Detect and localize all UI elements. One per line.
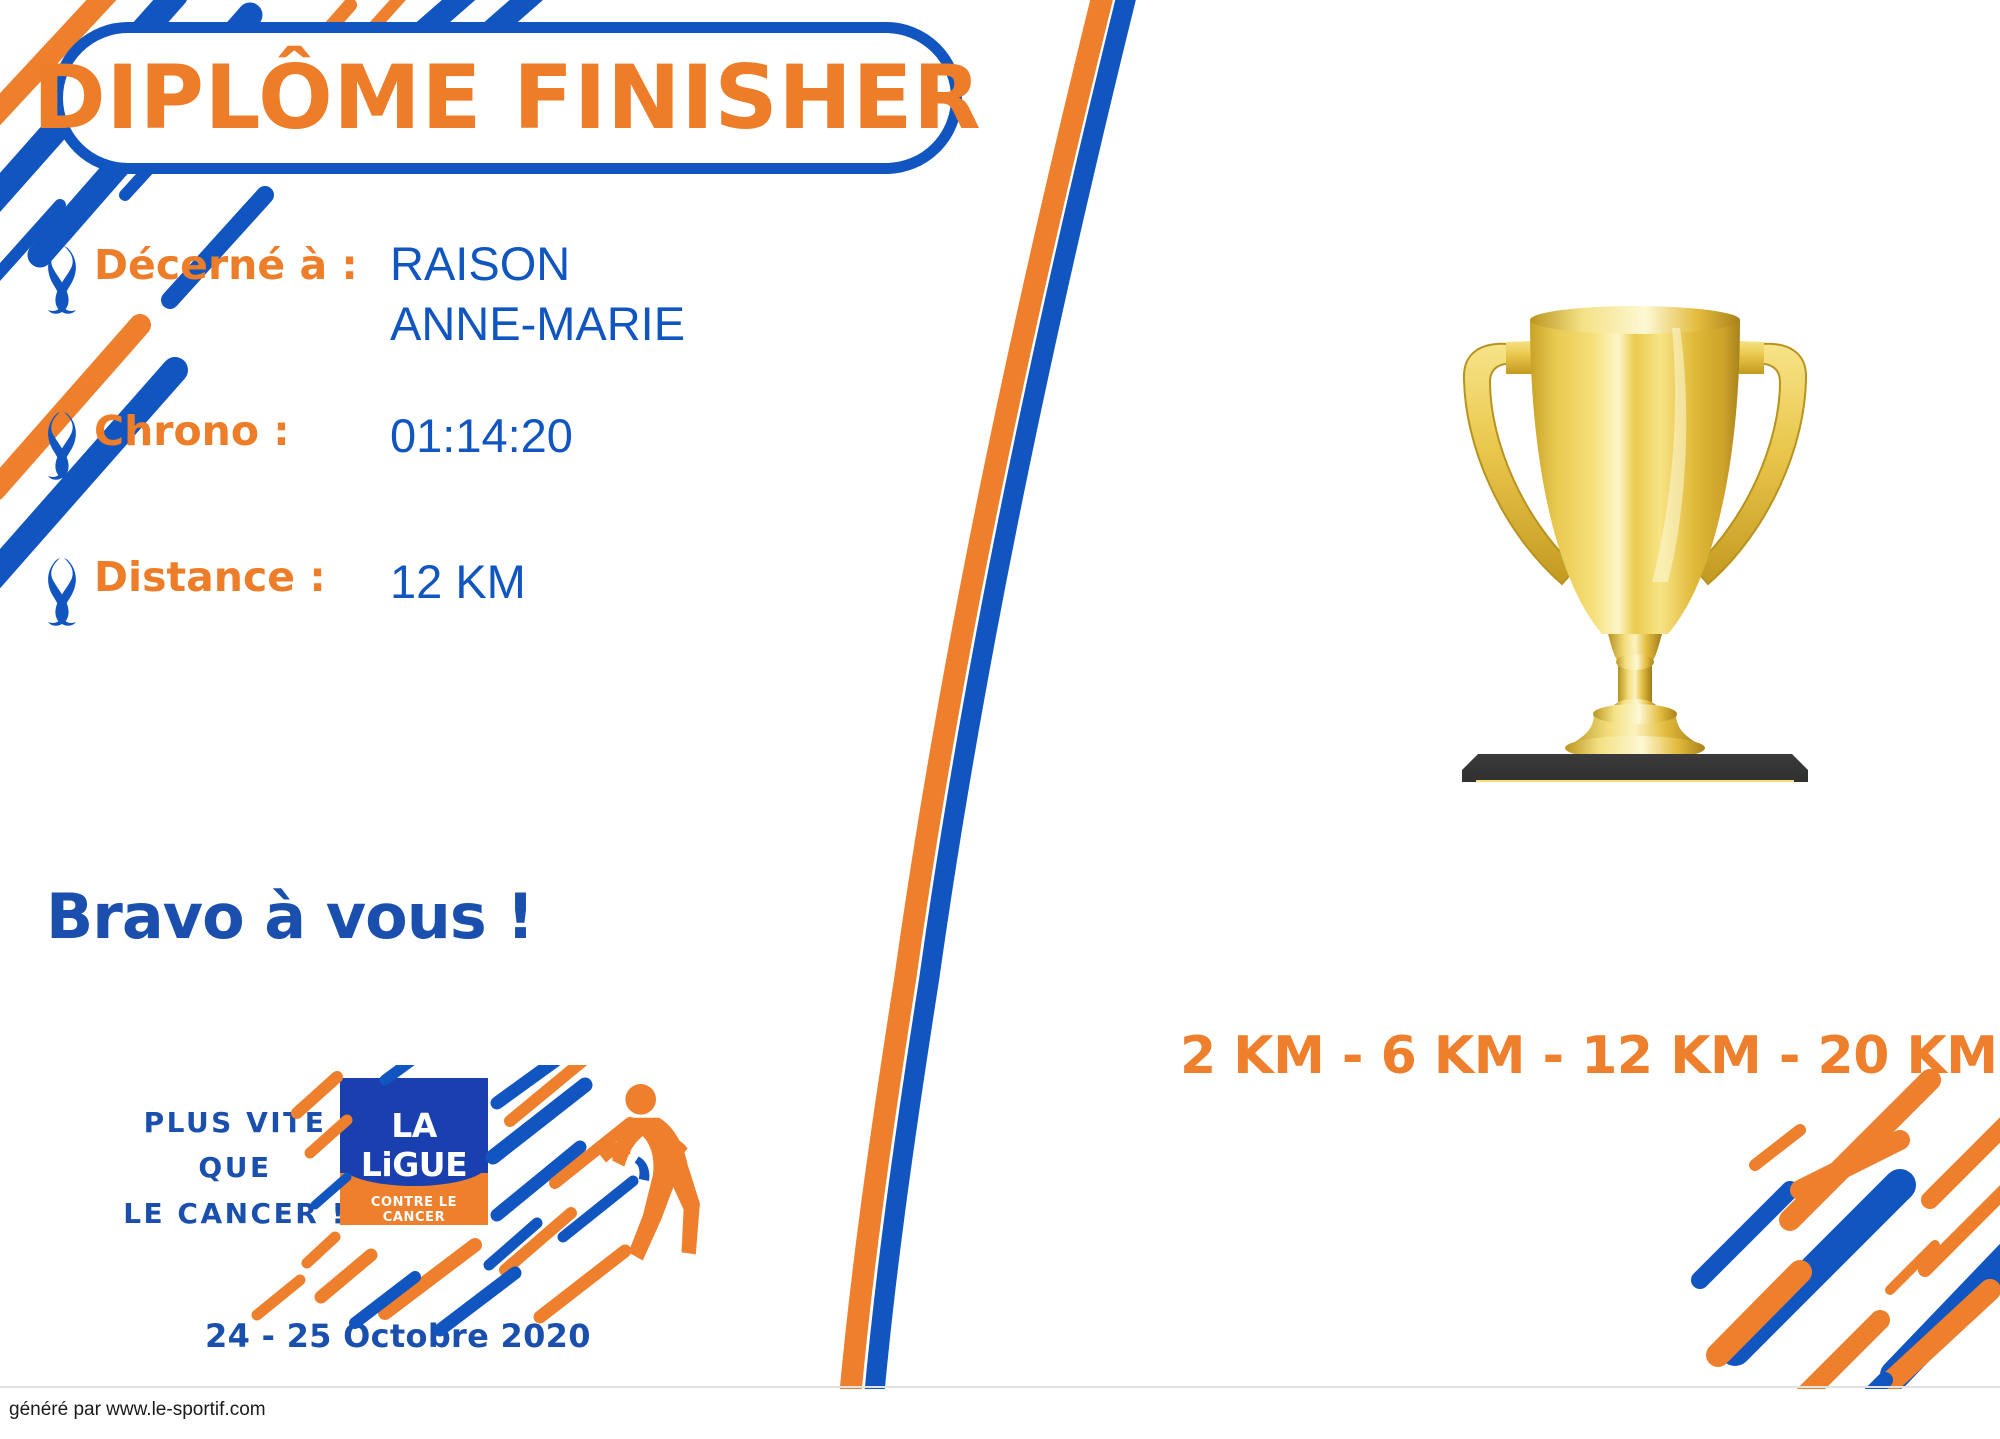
- trophy-illustration: [1380, 262, 1890, 782]
- detail-value-chrono: 01:14:20: [390, 406, 573, 466]
- logo-brand-text: LA LiGUE: [340, 1106, 488, 1184]
- event-branding-block: PLUS VITE QUE LE CANCER !: [85, 1065, 705, 1375]
- detail-value-distance: 12 KM: [390, 552, 526, 612]
- detail-label-distance: Distance :: [94, 550, 326, 599]
- footer-divider: [0, 1386, 2000, 1388]
- runner-silhouette-icon: [598, 1084, 700, 1260]
- ribbon-icon: [40, 408, 84, 482]
- detail-value-recipient: RAISON ANNE-MARIE: [390, 234, 685, 354]
- page-title: DIPLÔME FINISHER: [33, 54, 982, 142]
- race-distances-list: 2 KM - 6 KM - 12 KM - 20 KM: [1180, 1026, 1940, 1086]
- footer-bar: [0, 1389, 2000, 1439]
- la-ligue-logo: LA LiGUE CONTRE LE CANCER: [340, 1078, 488, 1225]
- ribbon-icon: [40, 554, 84, 628]
- gold-trophy-icon: [1380, 262, 1890, 782]
- detail-row-recipient: Décerné à : RAISON ANNE-MARIE: [40, 238, 358, 316]
- diploma-canvas: DIPLÔME FINISHER Décerné à : RAISON ANNE…: [0, 0, 2000, 1439]
- slogan-line-2: QUE: [95, 1145, 375, 1190]
- congratulation-text: Bravo à vous !: [46, 880, 534, 953]
- detail-row-distance: Distance : 12 KM: [40, 550, 326, 628]
- ribbon-icon: [40, 242, 84, 316]
- detail-row-chrono: Chrono : 01:14:20: [40, 404, 290, 482]
- diploma-title-banner: DIPLÔME FINISHER: [52, 22, 962, 174]
- slogan-line-3: LE CANCER !: [95, 1191, 375, 1236]
- slogan-line-1: PLUS VITE: [95, 1100, 375, 1145]
- detail-label-chrono: Chrono :: [94, 404, 290, 453]
- footer-generated-by: généré par www.le-sportif.com: [9, 1399, 266, 1421]
- event-date: 24 - 25 Octobre 2020: [205, 1317, 605, 1355]
- logo-tagline-text: CONTRE LE CANCER: [340, 1195, 488, 1225]
- event-slogan: PLUS VITE QUE LE CANCER !: [95, 1100, 375, 1236]
- detail-label-recipient: Décerné à :: [94, 238, 358, 287]
